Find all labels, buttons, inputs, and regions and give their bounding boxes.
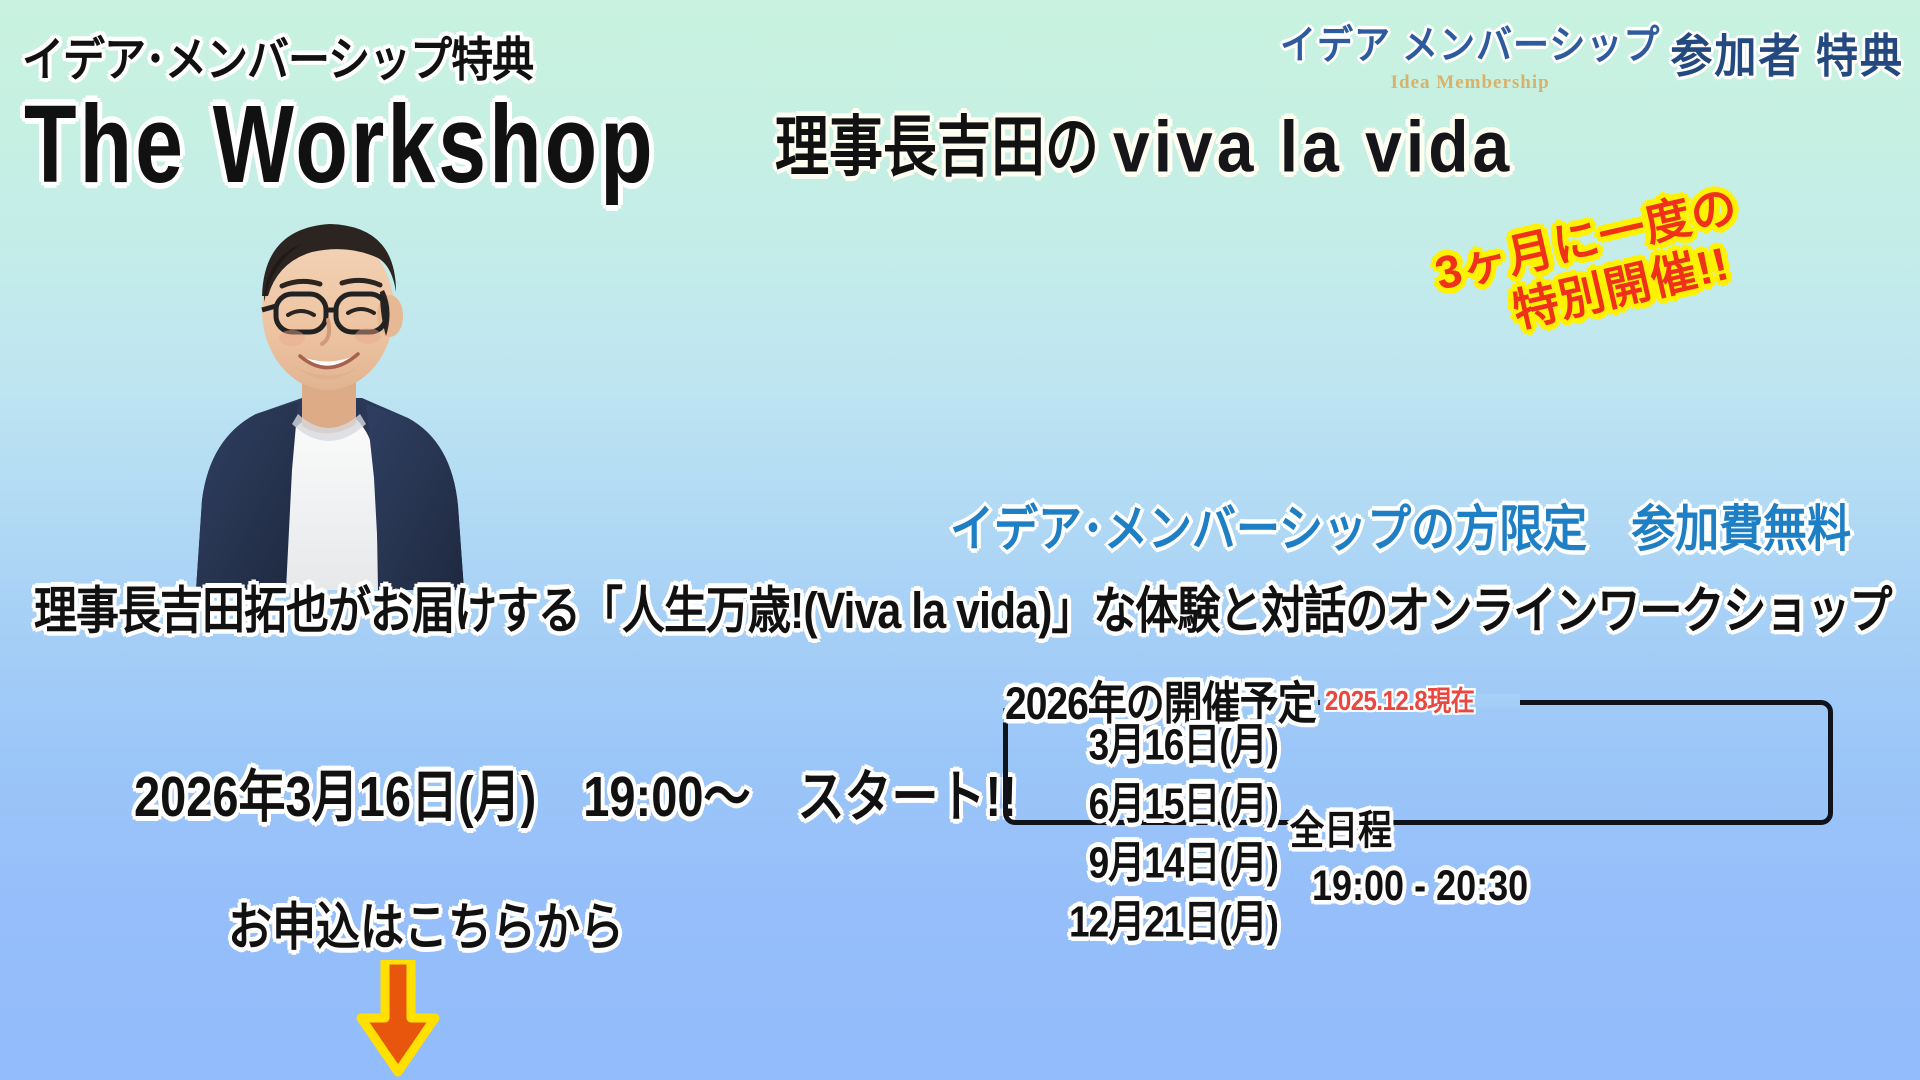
- subtitle-viva-la-vida: viva la vida: [1113, 104, 1513, 188]
- presenter-photo: [152, 170, 492, 590]
- subtitle-line: 理事長吉田の viva la vida: [775, 110, 1513, 189]
- schedule-time-block: 全日程 19:00 - 20:30: [1290, 798, 1528, 903]
- list-item: 6月15日(月): [1048, 777, 1278, 830]
- list-item: 3月16日(月): [1048, 718, 1278, 771]
- schedule-time-label: 全日程: [1290, 798, 1528, 856]
- schedule-date-list: 3月16日(月) 6月15日(月) 9月14日(月) 12月21日(月): [1048, 718, 1278, 955]
- next-event-datetime: 2026年3月16日(月) 19:00〜 スタート!!: [134, 750, 1017, 833]
- kicker-membership-benefit: イデア･メンバーシップ特典: [22, 22, 533, 90]
- page-title: The Workshop: [24, 82, 656, 209]
- schedule-time-value: 19:00 - 20:30: [1312, 861, 1528, 911]
- quarterly-special-stamp: 3ヶ月に一度の 特別開催!!: [1430, 179, 1755, 354]
- down-arrow-icon[interactable]: [355, 960, 441, 1080]
- membership-en-label: Idea Membership: [1280, 72, 1660, 94]
- subtitle-japanese: 理事長吉田の: [775, 93, 1099, 189]
- members-only-free-notice: イデア･メンバーシップの方限定 参加費無料: [950, 488, 1851, 561]
- membership-suffix-label: 参加者 特典: [1670, 13, 1904, 87]
- membership-badge: イデア メンバーシップ Idea Membership 参加者 特典: [1280, 16, 1904, 94]
- membership-label-block: イデア メンバーシップ Idea Membership: [1280, 16, 1660, 94]
- apply-here-label: お申込はこちらから: [228, 885, 624, 961]
- list-item: 12月21日(月): [1048, 895, 1278, 948]
- workshop-description: 理事長吉田拓也がお届けする「人生万歳!(Viva la vida)」な体験と対話…: [34, 570, 1891, 643]
- schedule-as-of-date: 2025.12.8現在: [1325, 678, 1474, 718]
- list-item: 9月14日(月): [1048, 836, 1278, 889]
- promo-banner: イデア･メンバーシップ特典 The Workshop イデア メンバーシップ I…: [0, 0, 1920, 1080]
- membership-jp-label: イデア メンバーシップ: [1280, 13, 1660, 70]
